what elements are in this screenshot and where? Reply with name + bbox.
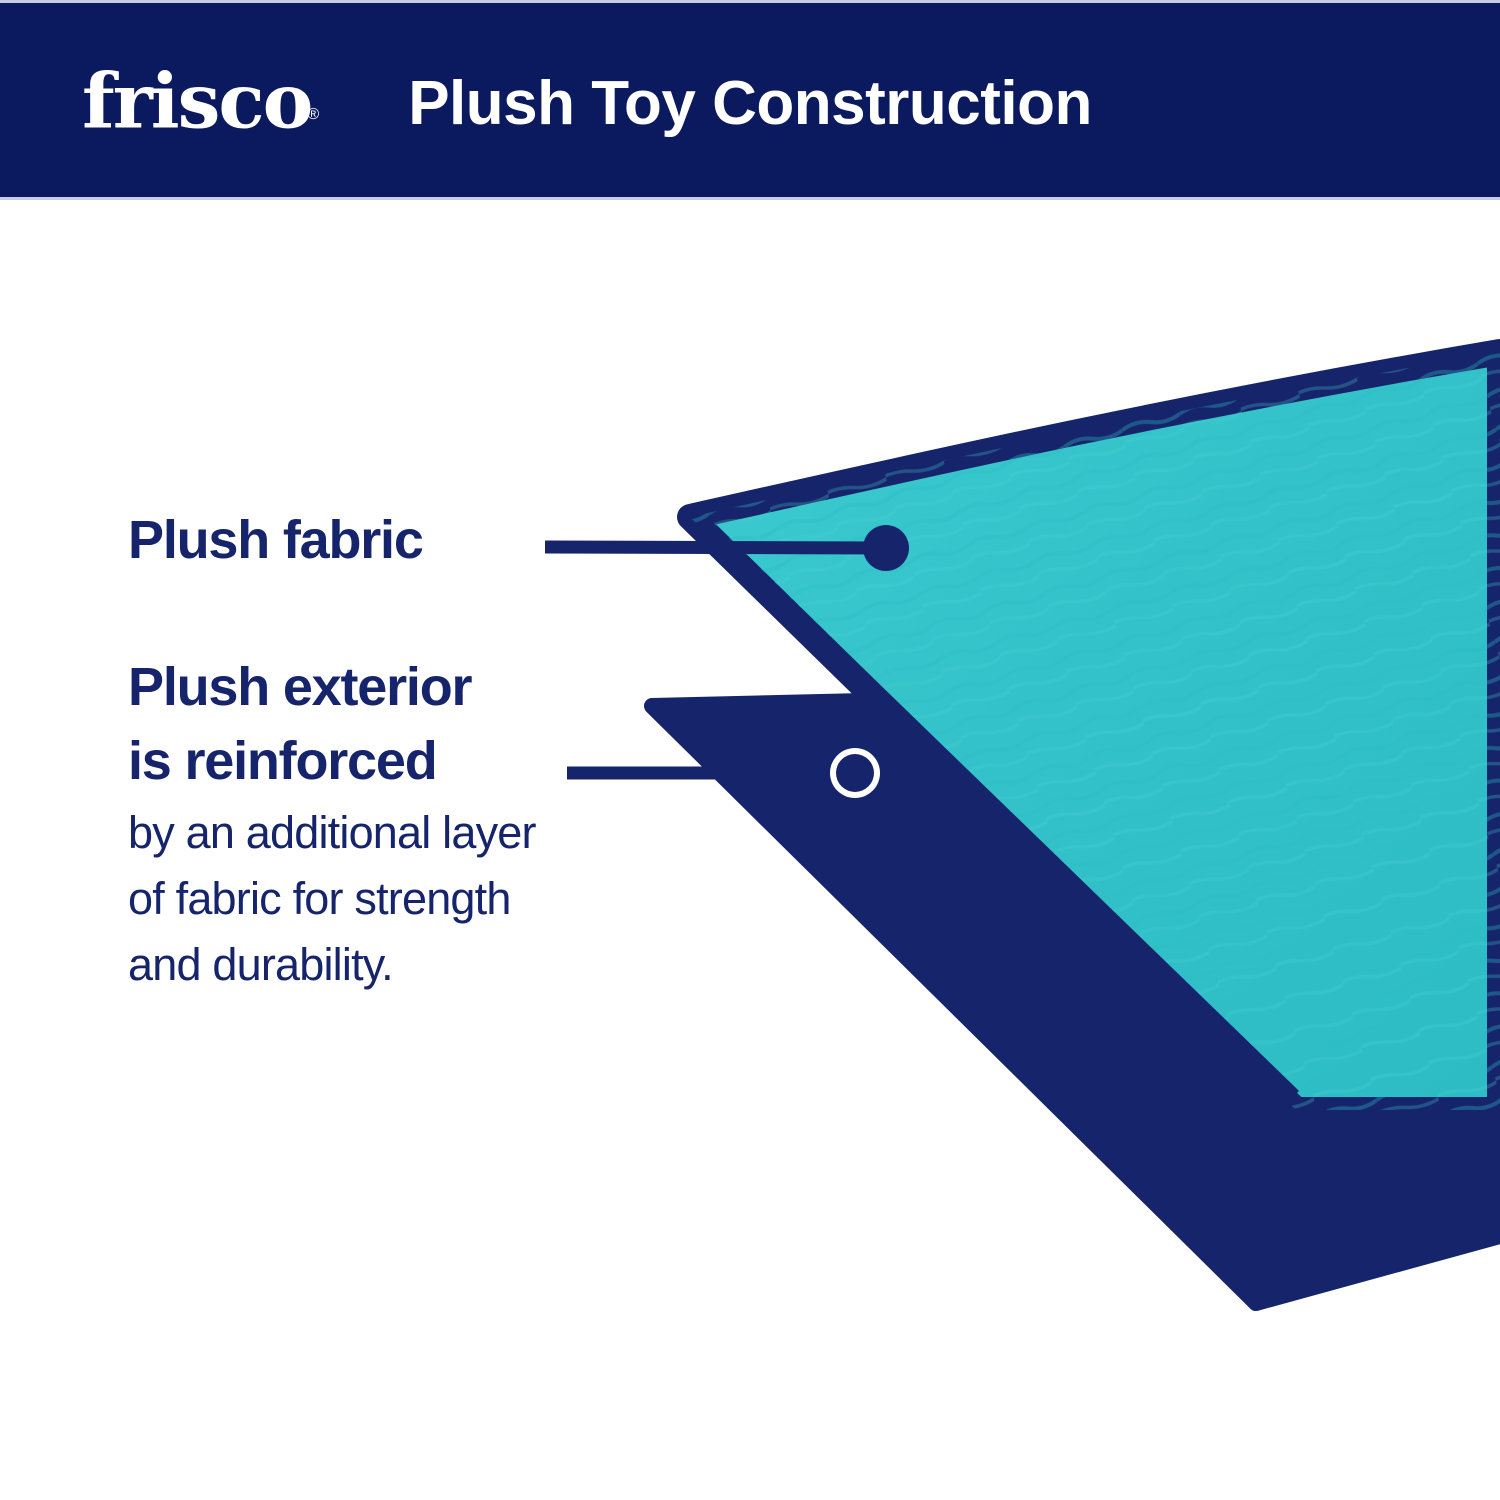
callout-body-plush-exterior: by an additional layer of fabric for str… (128, 800, 536, 998)
page-root: frisco® Plush Toy Construction (0, 0, 1500, 1500)
callout-heading-plush-exterior: Plush exterior is reinforced (128, 650, 471, 798)
callout-heading-line-1: Plush exterior (128, 650, 471, 724)
callout-body-line-2: of fabric for strength (128, 866, 536, 932)
callout-heading-line-2: is reinforced (128, 724, 471, 798)
callout-body-line-1: by an additional layer (128, 800, 536, 866)
callout-body-line-3: and durability. (128, 932, 536, 998)
callout-heading-plush-fabric: Plush fabric (128, 508, 423, 572)
callout-text-block: Plush fabric Plush exterior is reinforce… (0, 0, 1500, 1500)
